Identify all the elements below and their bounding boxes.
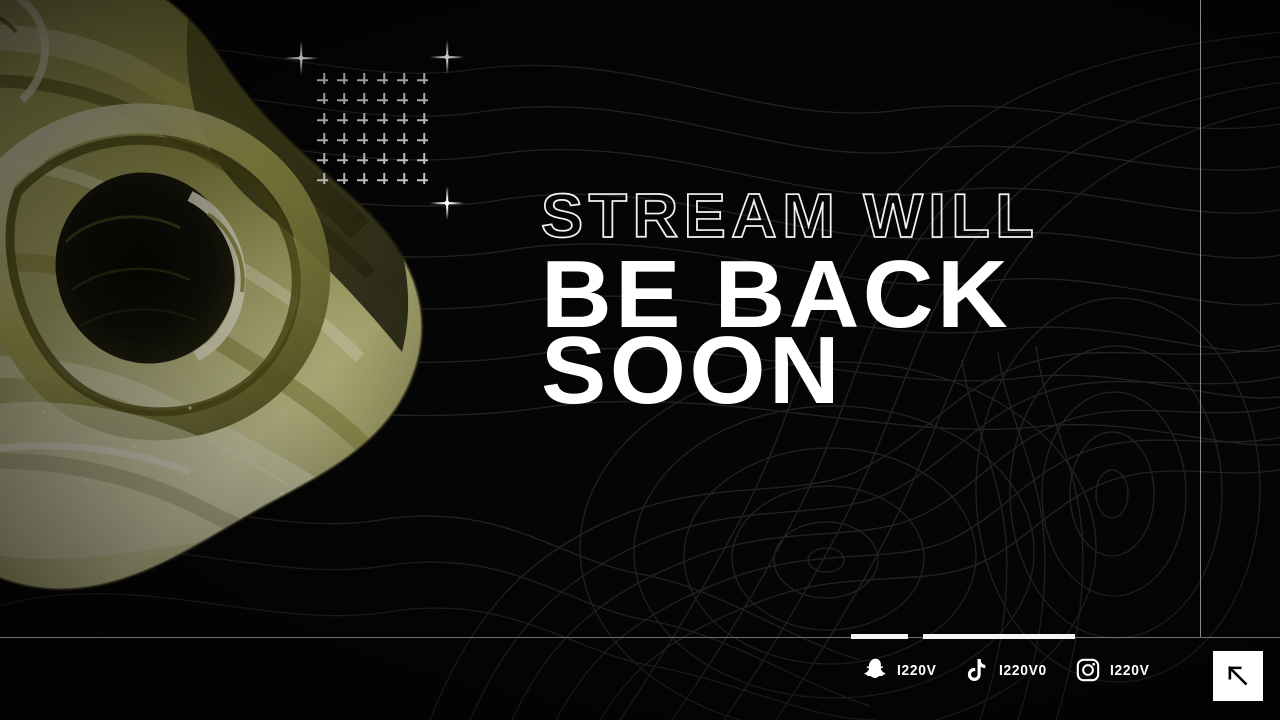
- snapchat-ghost-icon: [860, 655, 890, 685]
- instagram-camera-icon: [1073, 655, 1103, 685]
- plus-mark: [354, 90, 374, 110]
- plus-mark: [334, 170, 354, 190]
- plus-mark: [354, 130, 374, 150]
- social-link-tiktok[interactable]: I220V0: [962, 655, 1051, 685]
- arrow-up-left-icon: [1225, 663, 1251, 689]
- plus-mark: [314, 130, 334, 150]
- plus-mark: [334, 70, 354, 90]
- headline-line-3: SOON: [541, 329, 1039, 413]
- plus-mark: [334, 150, 354, 170]
- social-links-bar: I220V I220V0 I220V: [860, 655, 1153, 685]
- plus-mark: [374, 110, 394, 130]
- plus-mark: [374, 150, 394, 170]
- plus-mark: [354, 150, 374, 170]
- plus-mark: [354, 110, 374, 130]
- plus-mark: [394, 130, 414, 150]
- social-handle-instagram: I220V: [1110, 662, 1150, 679]
- headline-line-1: STREAM WILL: [541, 190, 1039, 245]
- sparkle-icon: [430, 40, 464, 74]
- plus-mark: [314, 170, 334, 190]
- plus-mark: [314, 90, 334, 110]
- plus-mark: [394, 110, 414, 130]
- vertical-divider: [1200, 0, 1201, 637]
- divider-accent-segment: [923, 634, 1075, 639]
- horizontal-divider: [0, 637, 1280, 638]
- plus-mark: [334, 130, 354, 150]
- plus-mark: [414, 130, 434, 150]
- plus-grid-decoration: [314, 70, 434, 190]
- stream-offline-screen: STREAM WILL BE BACK SOON I220V I220V0: [0, 0, 1280, 720]
- plus-mark: [374, 170, 394, 190]
- plus-mark: [394, 150, 414, 170]
- plus-mark: [354, 170, 374, 190]
- plus-mark: [314, 150, 334, 170]
- plus-mark: [394, 70, 414, 90]
- headline-block: STREAM WILL BE BACK SOON: [541, 190, 1029, 413]
- social-handle-tiktok: I220V0: [999, 662, 1047, 679]
- plus-mark: [354, 70, 374, 90]
- plus-mark: [414, 150, 434, 170]
- plus-mark: [394, 170, 414, 190]
- plus-mark: [414, 90, 434, 110]
- plus-mark: [414, 110, 434, 130]
- social-handle-snapchat: I220V: [897, 662, 937, 679]
- plus-mark: [334, 110, 354, 130]
- social-link-snapchat[interactable]: I220V: [860, 655, 940, 685]
- divider-accent-segment: [851, 634, 908, 639]
- tiktok-note-icon: [962, 655, 992, 685]
- plus-mark: [374, 130, 394, 150]
- plus-mark: [334, 90, 354, 110]
- plus-mark: [374, 90, 394, 110]
- plus-mark: [394, 90, 414, 110]
- sparkle-icon: [284, 41, 318, 75]
- plus-mark: [374, 70, 394, 90]
- arrow-up-left-badge[interactable]: [1213, 651, 1263, 701]
- social-link-instagram[interactable]: I220V: [1073, 655, 1153, 685]
- plus-mark: [314, 110, 334, 130]
- sparkle-icon: [430, 186, 464, 220]
